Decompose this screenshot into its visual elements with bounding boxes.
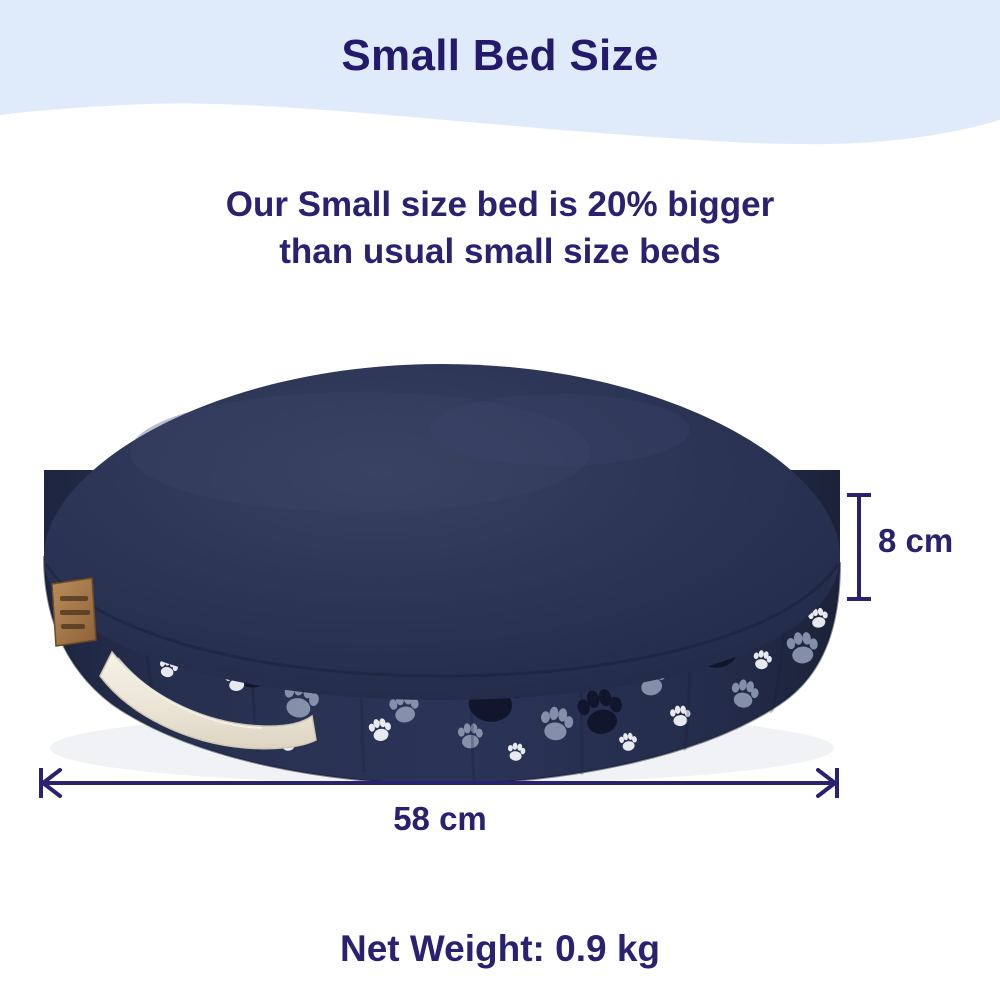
width-dimension-label: 58 cm	[0, 800, 880, 838]
height-dimension-label: 8 cm	[878, 522, 953, 560]
infographic-page: Small Bed Size Our Small size bed is 20%…	[0, 0, 1000, 1000]
width-dimension-line	[40, 768, 838, 798]
net-weight-text: Net Weight: 0.9 kg	[0, 928, 1000, 970]
dimension-annotations: 8 cm 58 cm	[0, 0, 1000, 1000]
height-dimension-line	[847, 494, 871, 600]
